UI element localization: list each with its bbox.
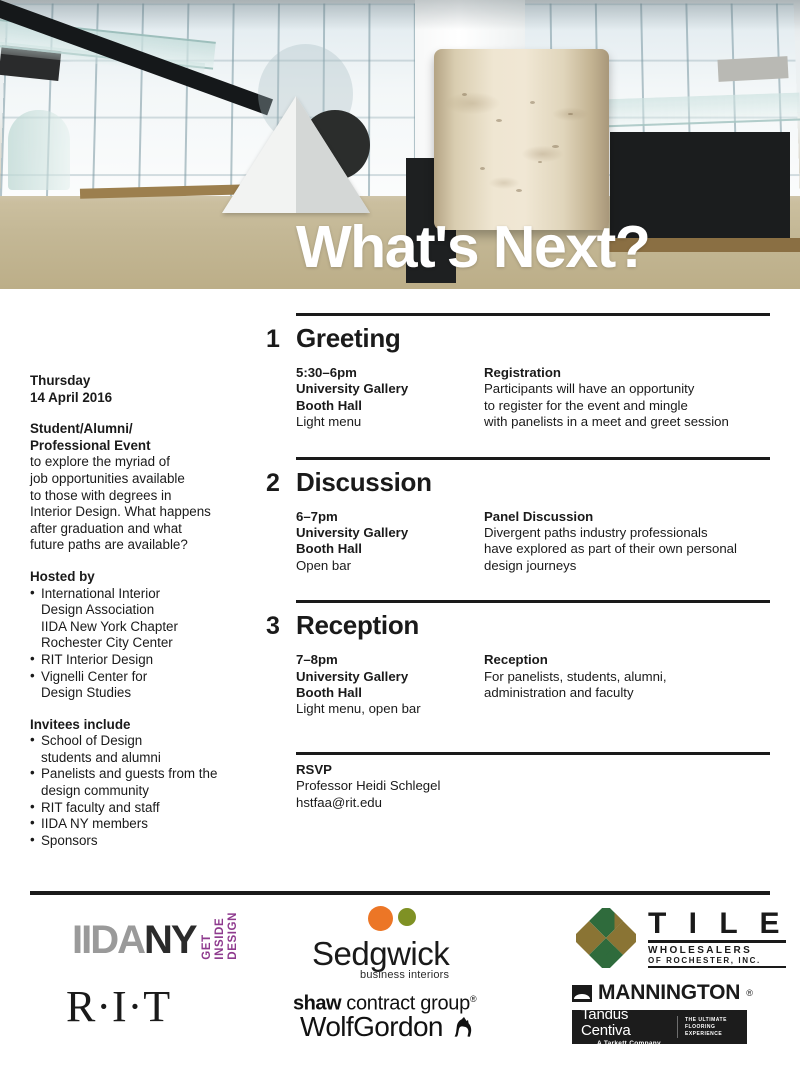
event-body-line: to explore the myriad of [30,454,250,471]
section-time: 6–7pm [296,509,484,525]
sedgwick-wordmark: Sedgwick [312,936,449,971]
event-description-block: Student/Alumni/ Professional Event to ex… [30,421,250,554]
event-heading-line2: Professional Event [30,438,250,455]
section-when: 5:30–6pm University Gallery Booth Hall L… [296,365,484,431]
list-item: Sponsors [30,833,250,850]
list-item: RIT Interior Design [30,652,250,669]
section-header: 2 Discussion [266,467,770,498]
rsvp-rule [296,752,770,755]
section-title: Greeting [296,323,401,353]
iidany-iida-text: IIDA [72,920,144,960]
invitee-name: RIT faculty and staff [41,800,160,815]
tile-sub-wholesalers: WHOLESALERS [648,945,786,956]
invitee-name: Sponsors [41,833,98,848]
rsvp-email[interactable]: hstfaa@rit.edu [296,795,770,811]
logo-tile-wholesalers: T I L E WHOLESALERS OF ROCHESTER, INC. [576,908,786,968]
glass-pedestal [8,110,70,190]
section-what-line: For panelists, students, alumni, [484,669,770,685]
invitee-name: School of Design [41,733,142,748]
list-item: Panelists and guests from the design com… [30,766,250,799]
schedule-section-1: 1 Greeting 5:30–6pm University Gallery B… [266,313,770,431]
tile-wordmark-group: T I L E WHOLESALERS OF ROCHESTER, INC. [648,909,786,968]
section-what: Reception For panelists, students, alumn… [484,652,770,718]
iidany-ny-text: NY [144,920,196,960]
section-when: 6–7pm University Gallery Booth Hall Open… [296,509,484,575]
event-body-line: to those with degrees in [30,488,250,505]
section-venue: University Gallery [296,381,484,397]
section-note: Open bar [296,558,484,574]
invitee-name-cont: students and alumni [41,750,250,767]
logo-mannington: MANNINGTON® [572,982,753,1004]
iidany-tagline-word: DESIGN [227,912,239,960]
list-item: IIDA NY members [30,816,250,833]
invitees-heading: Invitees include [30,717,250,734]
section-what-line: have explored as part of their own perso… [484,541,770,557]
tandus-tagline: THE ULTIMATE FLOORING EXPERIENCE [678,1017,747,1038]
section-body: 5:30–6pm University Gallery Booth Hall L… [296,365,770,431]
invitee-name: Panelists and guests from the [41,766,217,781]
sponsor-logos: IIDA NY GET INSIDE DESIGN R·I·T Sedgwick… [0,900,800,1060]
host-name: International Interior [41,586,160,601]
pinwheel-icon [576,908,636,968]
logo-tandus-centiva: Tandus Centiva A Tarkett Company THE ULT… [572,1010,747,1044]
section-number: 1 [266,324,296,354]
host-name-cont: Design Studies [41,685,250,702]
invitees-list: School of Design students and alumni Pan… [30,733,250,849]
event-date-block: Thursday 14 April 2016 [30,373,250,406]
section-what-heading: Registration [484,365,770,381]
tandus-name-group: Tandus Centiva A Tarkett Company [572,1007,677,1047]
circle-green-icon [398,908,416,926]
event-body-line: after graduation and what [30,521,250,538]
host-name: Vignelli Center for [41,669,147,684]
section-note: Light menu, open bar [296,701,484,717]
schedule-column: 1 Greeting 5:30–6pm University Gallery B… [266,313,770,811]
tandus-parent-company: A Tarkett Company [581,1040,677,1047]
tile-wordmark: T I L E [648,909,786,943]
list-item: Vignelli Center for Design Studies [30,669,250,702]
rsvp-contact: Professor Heidi Schlegel [296,778,770,794]
list-item: School of Design students and alumni [30,733,250,766]
main-content: Thursday 14 April 2016 Student/Alumni/ P… [0,289,800,889]
event-body-line: Interior Design. What happens [30,504,250,521]
event-day: Thursday [30,373,250,390]
page-title: What's Next? [296,218,649,277]
hosted-by-heading: Hosted by [30,569,250,586]
host-name: RIT Interior Design [41,652,153,667]
footer-divider [30,891,770,895]
section-body: 6–7pm University Gallery Booth Hall Open… [296,509,770,575]
ceiling-shade [0,0,800,30]
iidany-tagline-word: GET [201,912,213,960]
event-date: 14 April 2016 [30,390,250,407]
travertine-cylinder [434,49,609,230]
section-room: Booth Hall [296,541,484,557]
invitees-block: Invitees include School of Design studen… [30,717,250,850]
section-header: 3 Reception [266,610,770,641]
event-body-line: job opportunities available [30,471,250,488]
mannington-wave-icon [572,985,592,1002]
section-when: 7–8pm University Gallery Booth Hall Ligh… [296,652,484,718]
event-heading-line1: Student/Alumni/ [30,421,250,438]
wolfgordon-wordmark: WolfGordon [300,1012,443,1042]
section-what-line: administration and faculty [484,685,770,701]
section-rule [296,600,770,603]
left-info-column: Thursday 14 April 2016 Student/Alumni/ P… [30,373,250,864]
list-item: RIT faculty and staff [30,800,250,817]
mannington-wordmark: MANNINGTON [598,982,740,1004]
rsvp-block: RSVP Professor Heidi Schlegel hstfaa@rit… [266,752,770,811]
section-number: 3 [266,611,296,641]
list-item: International Interior Design Associatio… [30,586,250,652]
wolf-icon [451,1014,477,1040]
hosted-by-list: International Interior Design Associatio… [30,586,250,702]
event-body-line: future paths are available? [30,537,250,554]
schedule-section-2: 2 Discussion 6–7pm University Gallery Bo… [266,457,770,575]
tandus-tagline-line2: FLOORING EXPERIENCE [685,1024,747,1038]
host-name-cont: Rochester City Center [41,635,250,652]
pyramid-shaded-face [296,96,370,213]
section-time: 5:30–6pm [296,365,484,381]
iidany-tagline: GET INSIDE DESIGN [201,912,239,960]
tandus-wordmark: Tandus Centiva [581,1007,677,1039]
trademark-icon: ® [470,994,477,1004]
grey-box [717,56,788,82]
tandus-tagline-line1: THE ULTIMATE [685,1017,747,1024]
section-what-line: design journeys [484,558,770,574]
invitee-name-cont: design community [41,783,250,800]
section-what-heading: Panel Discussion [484,509,770,525]
invitee-name: IIDA NY members [41,816,148,831]
section-rule [296,457,770,460]
logo-iidany: IIDA NY GET INSIDE DESIGN [72,912,239,960]
section-what: Panel Discussion Divergent paths industr… [484,509,770,575]
iidany-tagline-word: INSIDE [214,912,226,960]
section-number: 2 [266,468,296,498]
tile-sub-rochester: OF ROCHESTER, INC. [648,956,786,968]
section-what-line: to register for the event and mingle [484,398,770,414]
logo-rit: R·I·T [66,984,171,1030]
rsvp-heading: RSVP [296,762,770,778]
circle-orange-icon [368,906,393,931]
section-what-line: with panelists in a meet and greet sessi… [484,414,770,430]
section-note: Light menu [296,414,484,430]
section-venue: University Gallery [296,525,484,541]
section-rule [296,313,770,316]
section-what-line: Divergent paths industry professionals [484,525,770,541]
logo-sedgwick: Sedgwick business interiors [312,906,449,981]
hosted-by-block: Hosted by International Interior Design … [30,569,250,702]
sedgwick-dots [312,906,449,930]
rsvp-body: RSVP Professor Heidi Schlegel hstfaa@rit… [296,762,770,811]
section-room: Booth Hall [296,685,484,701]
logo-wolf-gordon: WolfGordon [300,1012,477,1042]
section-title: Discussion [296,467,432,497]
registered-icon: ® [746,988,753,998]
section-time: 7–8pm [296,652,484,668]
host-name-cont: Design Association [41,602,250,619]
section-what: Registration Participants will have an o… [484,365,770,431]
section-body: 7–8pm University Gallery Booth Hall Ligh… [296,652,770,718]
host-name-cont: IIDA New York Chapter [41,619,250,636]
section-title: Reception [296,610,419,640]
hero-banner: What's Next? [0,0,800,289]
section-what-heading: Reception [484,652,770,668]
section-what-line: Participants will have an opportunity [484,381,770,397]
section-venue: University Gallery [296,669,484,685]
section-room: Booth Hall [296,398,484,414]
section-header: 1 Greeting [266,323,770,354]
schedule-section-3: 3 Reception 7–8pm University Gallery Boo… [266,600,770,718]
